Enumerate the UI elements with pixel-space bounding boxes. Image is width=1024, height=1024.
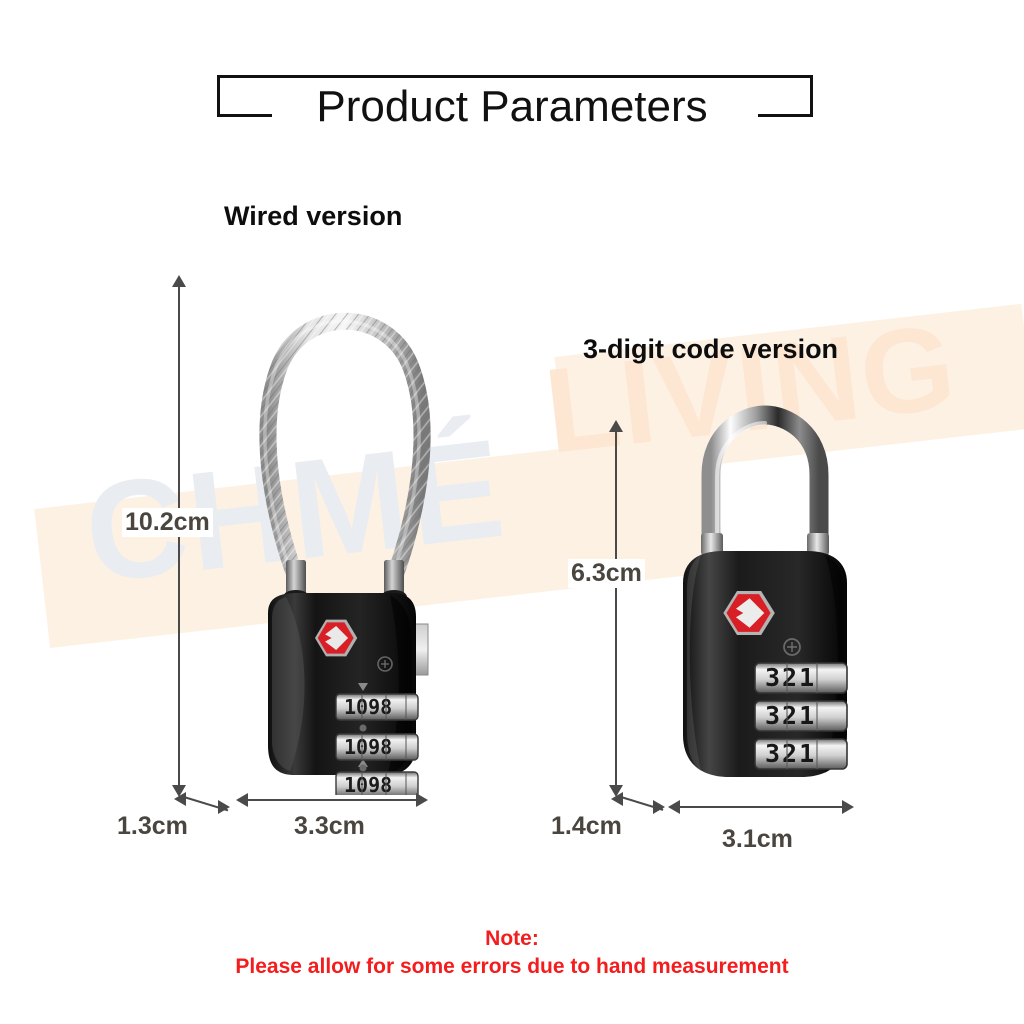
dial-row: 1098	[336, 734, 418, 760]
product-label-wired: Wired version	[224, 201, 402, 232]
note-heading: Note:	[0, 925, 1024, 953]
svg-text:321: 321	[765, 663, 816, 692]
shackle-combination-padlock-icon: 321 321 321	[665, 405, 865, 795]
dimension-label-width-wired: 3.3cm	[294, 812, 365, 841]
dial-row: 321	[755, 739, 847, 769]
dimension-label-depth-padlock: 1.4cm	[551, 812, 622, 841]
dial-row: 1098	[336, 772, 418, 795]
dimension-label-width-padlock: 3.1cm	[722, 825, 793, 854]
shackle	[711, 415, 819, 555]
steel-cable-loop	[265, 321, 422, 575]
dimension-label-height-wired: 10.2cm	[122, 508, 213, 537]
product-parameters-infographic: CHMÉ LIVING Product Parameters Wired ver…	[0, 0, 1024, 1024]
page-title: Product Parameters	[0, 82, 1024, 132]
svg-text:1098: 1098	[344, 735, 392, 759]
note-body: Please allow for some errors due to hand…	[0, 953, 1024, 981]
dimension-label-height-padlock: 6.3cm	[568, 559, 645, 588]
dial-row: 1098	[336, 694, 418, 720]
combination-dials: 321 321 321	[755, 663, 847, 769]
content-layer: Product Parameters Wired version 3-digit…	[0, 0, 1024, 1024]
svg-text:1098: 1098	[344, 773, 392, 795]
combination-dials: 1098 1098 1098	[336, 694, 418, 795]
cable-combination-lock-icon: 1098 1098 1098	[240, 275, 450, 795]
dial-row: 321	[755, 663, 847, 693]
measurement-note: Note: Please allow for some errors due t…	[0, 925, 1024, 982]
svg-text:321: 321	[765, 739, 816, 768]
dimension-label-depth-wired: 1.3cm	[117, 812, 188, 841]
svg-text:1098: 1098	[344, 695, 392, 719]
product-label-three-digit: 3-digit code version	[583, 334, 838, 365]
svg-text:321: 321	[765, 701, 816, 730]
dial-row: 321	[755, 701, 847, 731]
